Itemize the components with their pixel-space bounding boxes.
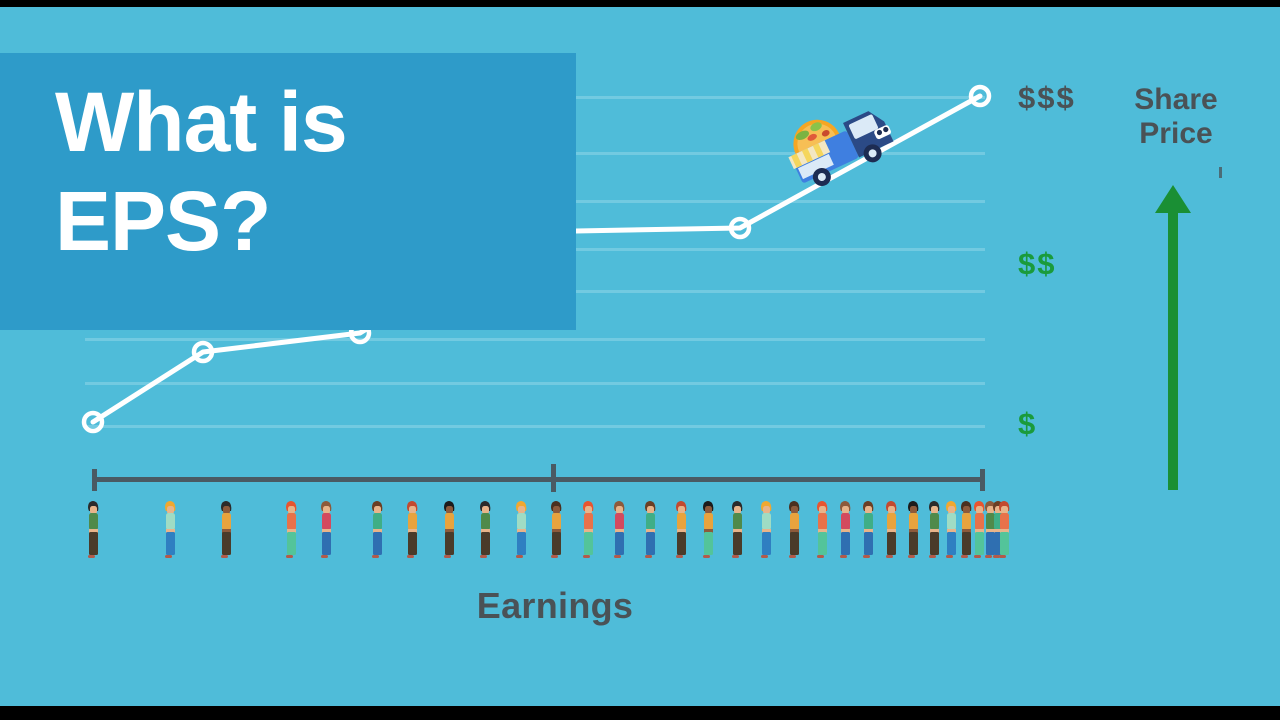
person-icon — [811, 499, 833, 561]
person-icon — [902, 499, 924, 561]
person-icon — [577, 499, 599, 561]
person-icon — [438, 499, 460, 561]
person-icon — [159, 499, 181, 561]
y-axis-value-label: $$$ — [1018, 80, 1076, 116]
person-icon — [510, 499, 532, 561]
stray-mark — [1219, 167, 1222, 178]
title-line-1: What is — [55, 73, 555, 172]
slide-canvas: What is EPS? $$$$$$ Share Price Earnings — [0, 7, 1280, 706]
person-icon — [755, 499, 777, 561]
x-axis-tick-middle — [551, 464, 556, 492]
person-icon — [783, 499, 805, 561]
person-icon — [857, 499, 879, 561]
person-icon — [880, 499, 902, 561]
title-line-2: EPS? — [55, 172, 555, 271]
person-icon — [401, 499, 423, 561]
page-title: What is EPS? — [55, 73, 555, 271]
person-icon — [474, 499, 496, 561]
person-icon — [315, 499, 337, 561]
title-overlay-panel: What is EPS? — [0, 53, 576, 330]
x-axis-title: Earnings — [0, 585, 1110, 627]
person-icon — [993, 499, 1015, 561]
person-icon — [82, 499, 104, 561]
x-axis-tick-left — [92, 469, 97, 491]
person-icon — [608, 499, 630, 561]
letterbox-bottom — [0, 706, 1280, 720]
person-icon — [834, 499, 856, 561]
person-icon — [215, 499, 237, 561]
person-icon — [697, 499, 719, 561]
letterbox-top — [0, 0, 1280, 7]
person-icon — [366, 499, 388, 561]
y-axis-title-line-1: Share — [1102, 83, 1250, 117]
y-axis-title-line-2: Price — [1102, 117, 1250, 151]
x-axis-line — [92, 477, 985, 482]
person-icon — [726, 499, 748, 561]
person-icon — [670, 499, 692, 561]
person-icon — [639, 499, 661, 561]
person-icon — [280, 499, 302, 561]
food-truck-illustration — [779, 91, 897, 187]
shareholders-row — [0, 499, 1280, 561]
y-axis-value-label: $ — [1018, 406, 1037, 442]
y-axis-title: Share Price — [1102, 83, 1250, 150]
video-frame: What is EPS? $$$$$$ Share Price Earnings — [0, 0, 1280, 720]
up-arrow-icon — [1140, 185, 1206, 490]
person-icon — [545, 499, 567, 561]
x-axis-tick-right — [980, 469, 985, 491]
y-axis-value-label: $$ — [1018, 246, 1056, 282]
